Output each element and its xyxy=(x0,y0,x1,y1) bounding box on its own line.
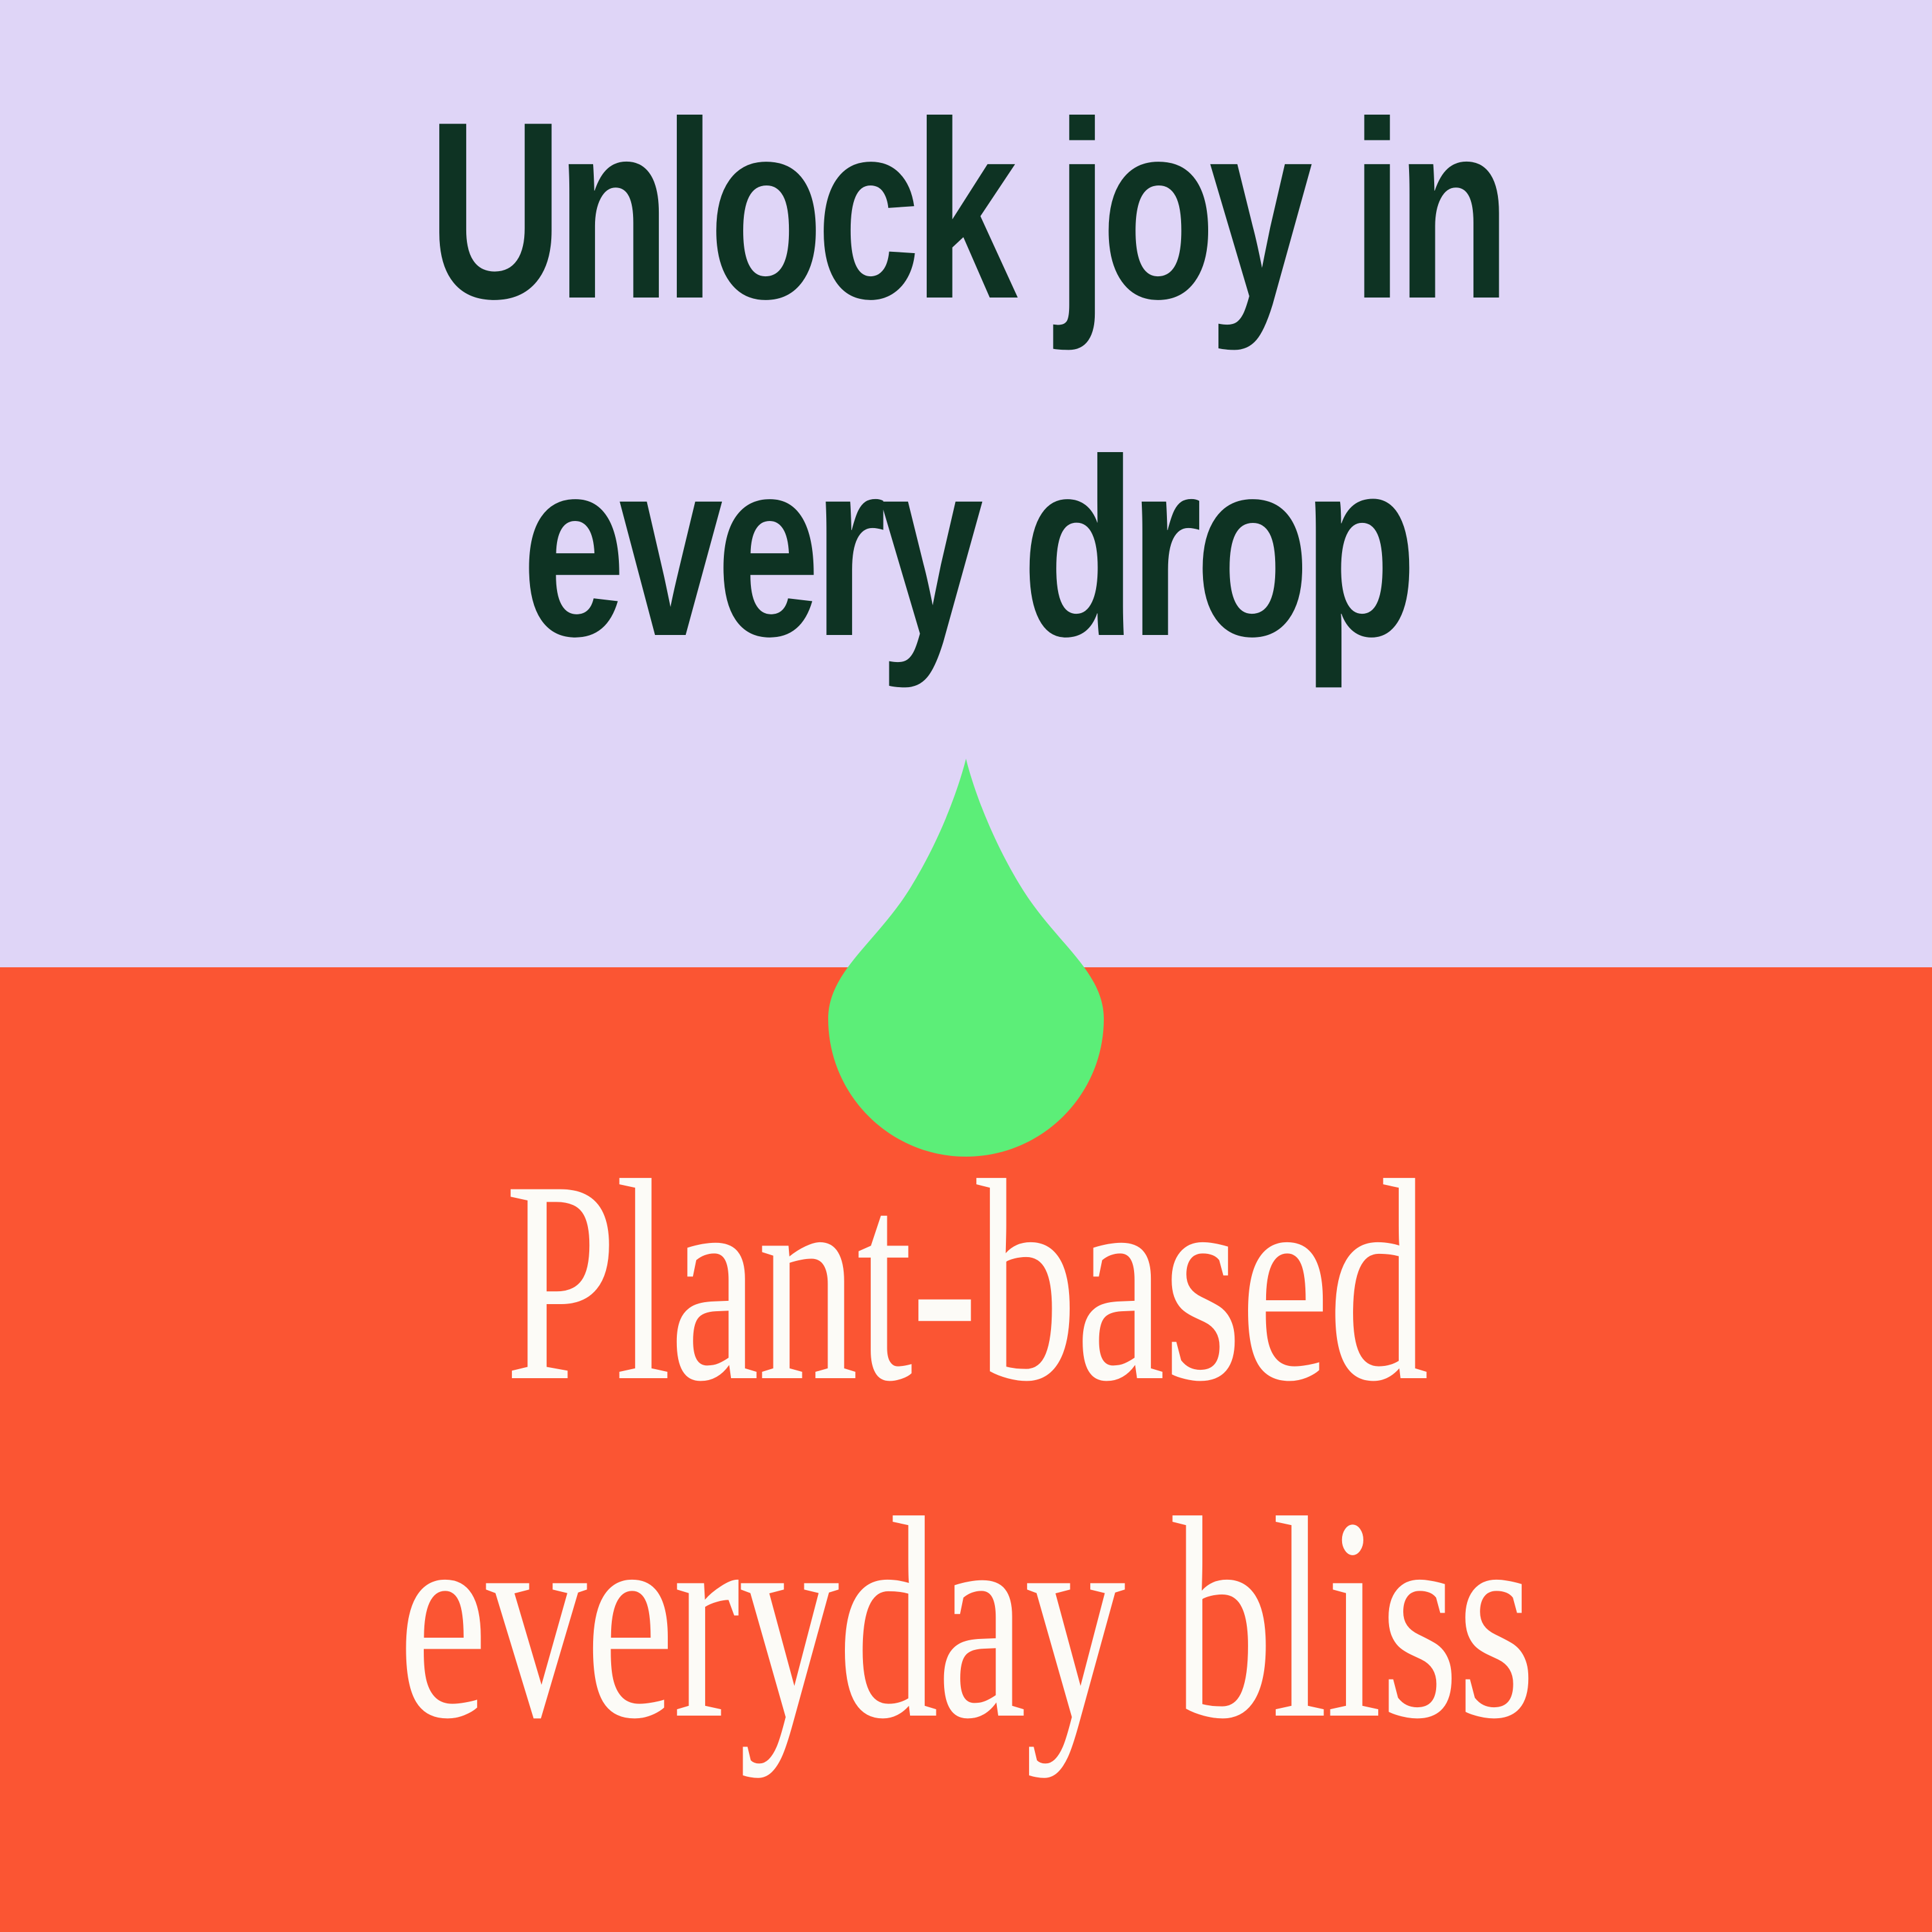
water-drop-icon xyxy=(828,759,1104,1157)
subheadline-line-1: Plant-based xyxy=(290,1179,1642,1383)
headline-line-1: Unlock joy in xyxy=(251,126,1681,295)
water-drop-graphic xyxy=(828,759,1104,1157)
subheadline: Plant-based everyday bliss xyxy=(290,1179,1642,1721)
headline-line-2: every drop xyxy=(251,464,1681,632)
poster-canvas: Unlock joy in every drop Plant-based eve… xyxy=(0,0,1932,1932)
headline: Unlock joy in every drop xyxy=(251,0,1681,632)
subheadline-line-2: everyday bliss xyxy=(290,1516,1642,1721)
